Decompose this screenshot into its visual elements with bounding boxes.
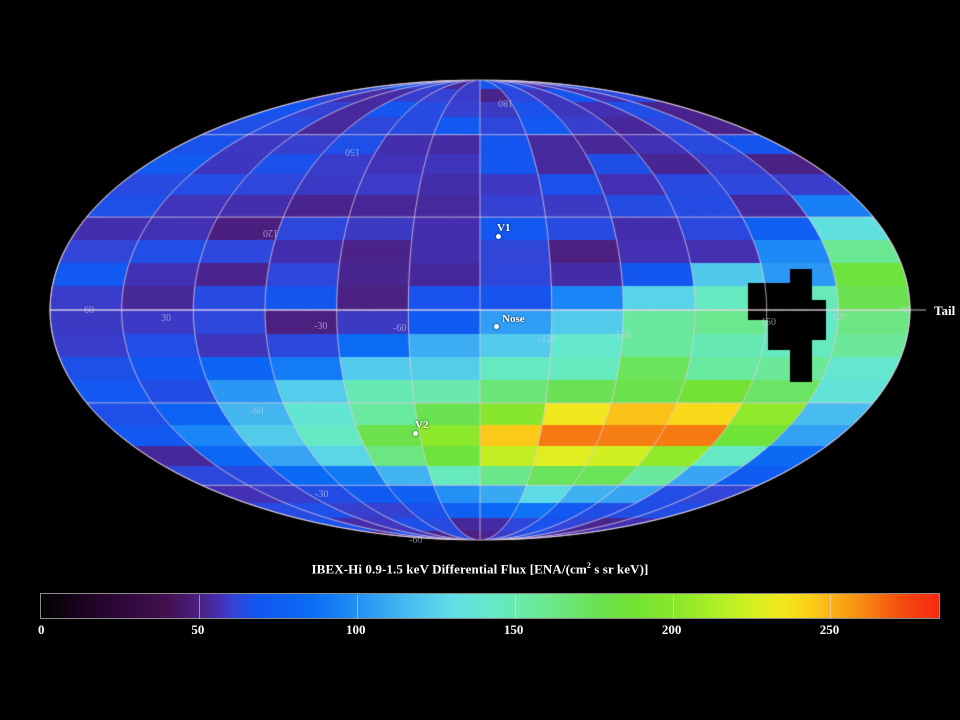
colorbar-tick-150: 150: [504, 622, 524, 638]
colorbar-separator: [357, 595, 358, 619]
caption-prefix: IBEX-Hi 0.9-1.5 keV Differential Flux [E…: [312, 561, 587, 576]
colorbar-tick-50: 50: [191, 622, 204, 638]
colorbar-separator: [673, 595, 674, 619]
colorbar-gradient: [40, 593, 940, 619]
nose-marker: [494, 324, 499, 329]
colorbar-tick-labels: 050100150200250: [40, 622, 940, 642]
colorbar-tick-250: 250: [820, 622, 840, 638]
v2-marker: [413, 431, 418, 436]
colorbar-tick-200: 200: [662, 622, 682, 638]
figure-caption: IBEX-Hi 0.9-1.5 keV Differential Flux [E…: [0, 561, 960, 577]
all-sky-map: 1801501206030-30-60-120-15015012090-60-3…: [0, 0, 960, 545]
ibex-sky-map-figure: 1801501206030-30-60-120-15015012090-60-3…: [0, 0, 960, 720]
colorbar-tick-100: 100: [346, 622, 366, 638]
colorbar: [40, 593, 940, 621]
v1-marker: [496, 234, 501, 239]
colorbar-separator: [199, 595, 200, 619]
map-canvas: [0, 0, 960, 545]
colorbar-separator: [515, 595, 516, 619]
colorbar-separator: [830, 595, 831, 619]
colorbar-tick-0: 0: [38, 622, 45, 638]
caption-suffix: s sr keV)]: [591, 561, 649, 576]
